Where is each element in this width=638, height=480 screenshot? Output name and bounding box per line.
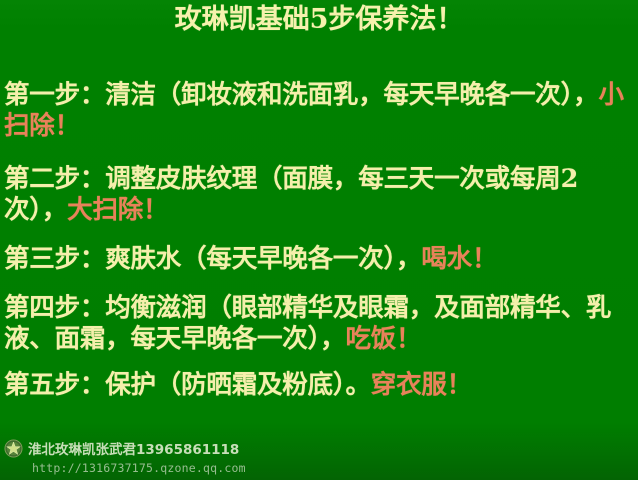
watermark-contact-line: 淮北玫琳凯张武君13965861118 [4, 437, 638, 459]
step-5-main-text: 第五步：保护（防晒霜及粉底）。 [4, 370, 371, 400]
step-4-main-text: 第四步：均衡滋润（眼部精华及眼霜，及面部精华、乳液、面霜，每天早晚各一次）， [4, 293, 611, 354]
step-item-2: 第二步：调整皮肤纹理（面膜，每三天一次或每周2次），大扫除！ [4, 164, 636, 226]
step-item-3: 第三步：爽肤水（每天早晚各一次），喝水！ [4, 244, 636, 275]
step-item-1: 第一步：清洁（卸妆液和洗面乳，每天早晚各一次），小扫除！ [4, 80, 636, 142]
presentation-slide: 玫琳凯基础5步保养法！ 第一步：清洁（卸妆液和洗面乳，每天早晚各一次），小扫除！… [0, 0, 638, 480]
slide-title: 玫琳凯基础5步保养法！ [0, 4, 638, 36]
step-item-5: 第五步：保护（防晒霜及粉底）。穿衣服！ [4, 370, 636, 401]
step-3-highlight-text: 喝水！ [421, 244, 497, 274]
step-5-highlight-text: 穿衣服！ [371, 370, 472, 400]
step-3-main-text: 第三步：爽肤水（每天早晚各一次）， [4, 244, 421, 274]
step-4-highlight-text: 吃饭！ [345, 324, 421, 354]
step-1-main-text: 第一步：清洁（卸妆液和洗面乳，每天早晚各一次）， [4, 80, 598, 110]
step-2-highlight-text: 大扫除！ [67, 195, 168, 225]
watermark: 淮北玫琳凯张武君13965861118 http://1316737175.qz… [0, 434, 638, 480]
steps-list: 第一步：清洁（卸妆液和洗面乳，每天早晚各一次），小扫除！ 第二步：调整皮肤纹理（… [4, 80, 636, 401]
step-item-4: 第四步：均衡滋润（眼部精华及眼霜，及面部精华、乳液、面霜，每天早晚各一次），吃饭… [4, 293, 636, 355]
watermark-url: http://1316737175.qzone.qq.com [32, 461, 638, 475]
watermark-name-phone: 淮北玫琳凯张武君13965861118 [28, 438, 239, 458]
star-badge-icon [4, 439, 23, 458]
